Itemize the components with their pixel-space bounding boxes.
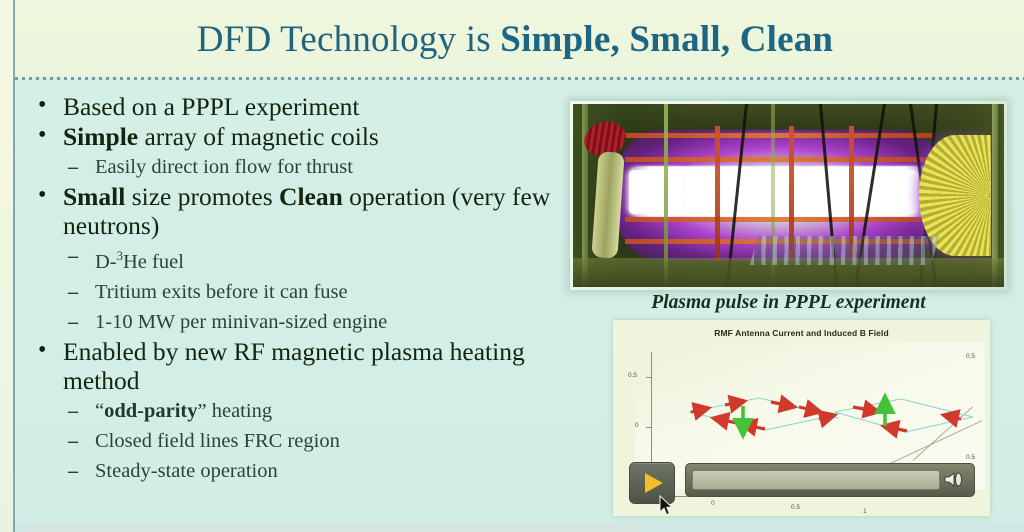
photo-horizontal-manifold [625, 157, 935, 162]
antenna-loop-left [689, 398, 835, 430]
subbullet-tritium-exits: Tritium exits before it can fuse [26, 277, 556, 307]
subbullet-d3he-suffix: He fuel [123, 251, 184, 273]
video-scrubber[interactable] [685, 463, 975, 497]
bullet-based-on-pppl: Based on a PPPL experiment [26, 92, 556, 121]
header-dotted-divider [15, 77, 1024, 80]
subbullet-tritium-exits-label: Tritium exits before it can fuse [95, 281, 348, 303]
photo-window [629, 170, 681, 214]
photo-caption: Plasma pulse in PPPL experiment [570, 292, 1007, 314]
subbullet-odd-parity-keyword: odd-parity [104, 400, 197, 422]
bullet-simple-array: Simple array of magnetic coils [26, 122, 556, 151]
subbullet-easily-direct-ion-flow-label: Easily direct ion flow for thrust [95, 156, 353, 178]
bullet-list: Based on a PPPL experiment Simple array … [26, 92, 556, 486]
mouse-cursor-icon [659, 495, 675, 516]
bullet-simple-array-label: array of magnetic coils [138, 122, 379, 151]
photo-coil-rib [715, 126, 720, 261]
photo-window [754, 170, 801, 214]
plasma-photo-frame [570, 101, 1007, 290]
bullet-enabled-by-rf: Enabled by new RF magnetic plasma heatin… [26, 337, 556, 395]
slide: DFD Technology is Simple, Small, Clean B… [0, 0, 1024, 532]
subbullet-d3he-fuel: D-3He fuel [26, 241, 556, 277]
current-arrow [691, 401, 961, 431]
photo-window [870, 170, 917, 214]
bullet-clean-keyword: Clean [279, 182, 343, 211]
subbullet-odd-parity-openquote: “ [95, 400, 104, 422]
speaker-icon[interactable] [942, 471, 968, 488]
subbullet-closed-field-lines-label: Closed field lines FRC region [95, 430, 340, 452]
photo-window [810, 170, 862, 214]
left-margin-band [0, 0, 13, 532]
bullet-small-mid-label: size promotes [125, 182, 279, 211]
subbullet-power-per-engine: 1-10 MW per minivan-sized engine [26, 307, 556, 337]
page-title-plain: DFD Technology is [197, 19, 501, 60]
video-player-panel[interactable]: RMF Antenna Current and Induced B Field … [613, 320, 990, 516]
subbullet-odd-parity-heating: “odd-parity” heating [26, 396, 556, 426]
bullet-simple-keyword: Simple [63, 122, 138, 151]
photo-grating [750, 236, 939, 265]
bullet-small-keyword: Small [63, 182, 125, 211]
subbullet-d3he-prefix: D- [95, 251, 117, 273]
subbullet-odd-parity-suffix: ” heating [198, 400, 273, 422]
subbullet-easily-direct-ion-flow: Easily direct ion flow for thrust [26, 152, 556, 182]
subbullet-steady-state-label: Steady-state operation [95, 460, 278, 482]
bullet-small-size-clean: Small size promotes Clean operation (ver… [26, 182, 556, 240]
video-scrubber-track[interactable] [692, 470, 940, 490]
bullet-based-on-pppl-label: Based on a PPPL experiment [63, 92, 360, 121]
photo-horizontal-manifold [625, 217, 935, 222]
subbullet-power-per-engine-label: 1-10 MW per minivan-sized engine [95, 311, 387, 333]
plasma-photo [573, 104, 1004, 287]
subbullet-steady-state: Steady-state operation [26, 456, 556, 486]
bullet-enabled-by-rf-label: Enabled by new RF magnetic plasma heatin… [63, 337, 525, 395]
bottom-strip-secondary [30, 524, 640, 532]
photo-horizontal-manifold [625, 133, 935, 138]
page-title: DFD Technology is Simple, Small, Clean [15, 10, 1015, 70]
subbullet-closed-field-lines: Closed field lines FRC region [26, 426, 556, 456]
page-title-emphasis: Simple, Small, Clean [500, 19, 833, 60]
play-icon [645, 473, 663, 493]
